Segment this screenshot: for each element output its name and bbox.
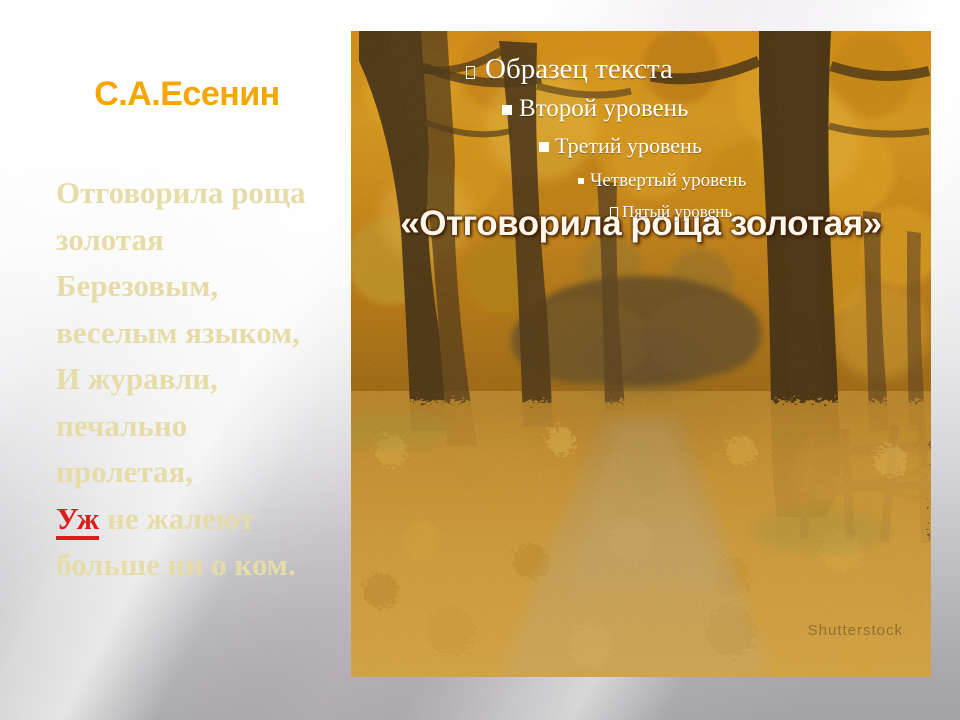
presentation-slide: С.А.Есенин Отговорила роща золотая Берез… — [0, 0, 960, 720]
poem-line: Отговорила роща — [56, 170, 356, 217]
filled-square-bullet-icon — [495, 93, 519, 129]
poem-line: пролетая, — [56, 449, 356, 496]
slide-title: С.А.Есенин — [34, 74, 340, 114]
missing-glyph-box-icon — [605, 200, 622, 228]
list-item[interactable]: Третий уровень — [455, 129, 925, 166]
list-item-label: Образец текста — [485, 50, 673, 88]
poem-line-highlighted: Уж не жалеют — [56, 496, 356, 543]
stock-watermark: Shutterstock — [808, 622, 903, 639]
list-item-label: Четвертый уровень — [590, 166, 746, 196]
list-item-label: Пятый уровень — [622, 198, 732, 226]
poem-line: золотая — [56, 217, 356, 264]
poem-line: И журавли, — [56, 356, 356, 403]
small-square-bullet-icon — [571, 168, 590, 198]
missing-glyph-box-icon — [455, 53, 485, 91]
list-item-label: Второй уровень — [519, 91, 688, 127]
content-placeholder-list[interactable]: Образец текста Второй уровень Третий уро… — [455, 50, 925, 228]
highlighted-word: Уж — [56, 501, 99, 540]
poem-line-rest: не жалеют — [99, 501, 254, 536]
poem-line: Березовым, — [56, 263, 356, 310]
filled-square-bullet-icon — [533, 133, 555, 166]
poem-text-block: Отговорила роща золотая Березовым, весел… — [56, 170, 356, 589]
list-item[interactable]: Второй уровень — [455, 91, 925, 129]
poem-line: веселым языком, — [56, 310, 356, 357]
list-item[interactable]: Пятый уровень — [455, 198, 925, 228]
list-item[interactable]: Четвертый уровень — [455, 166, 925, 198]
list-item-label: Третий уровень — [555, 129, 702, 162]
list-item[interactable]: Образец текста — [455, 50, 925, 91]
poem-line: печально — [56, 403, 356, 450]
poem-line: больше ни о ком. — [56, 542, 356, 589]
